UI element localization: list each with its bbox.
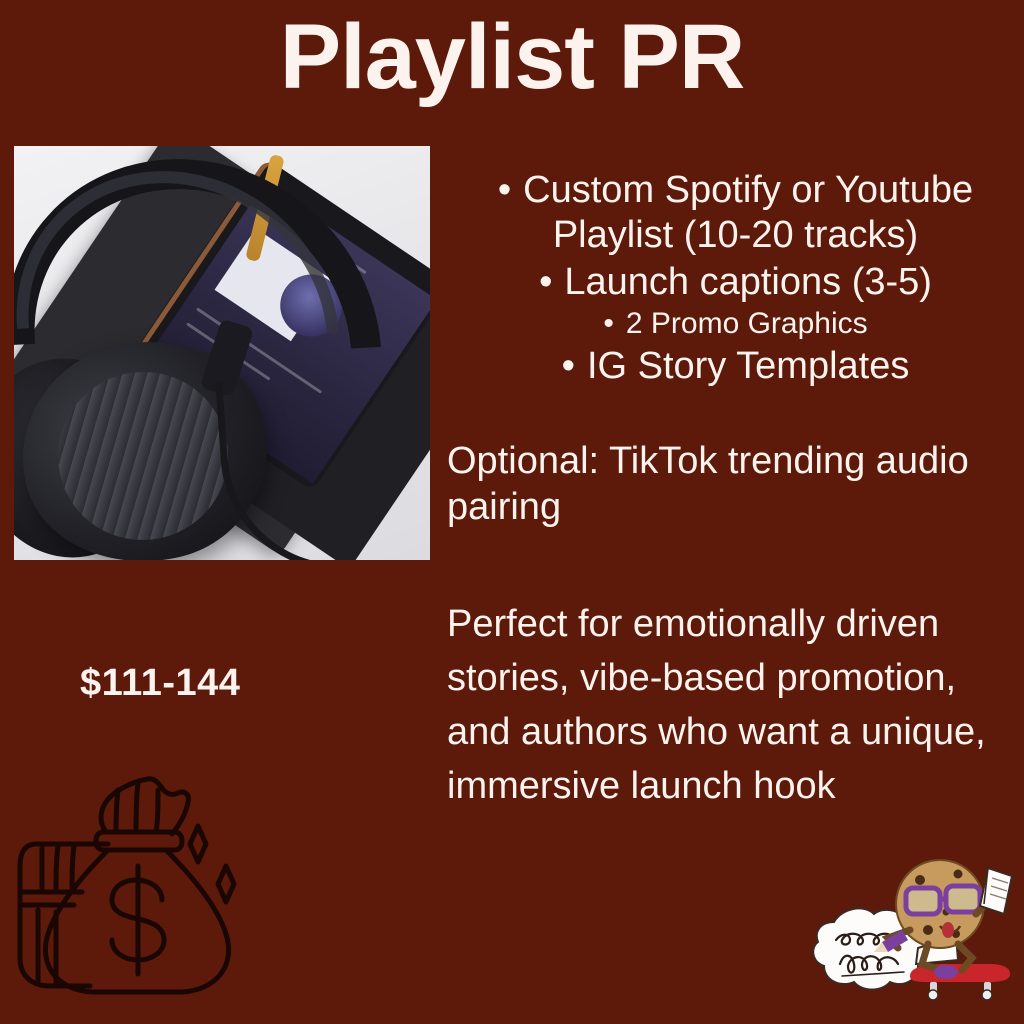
price-label: $111-144 [80, 662, 240, 705]
list-item: •Launch captions (3-5) [447, 260, 1024, 305]
feature-text: Custom Spotify or Youtube Playlist (10-2… [523, 169, 973, 256]
bullet-icon: • [498, 168, 511, 213]
bullet-icon: • [562, 344, 575, 389]
notebook-icon [980, 868, 1012, 914]
headphones-and-phone-photo [14, 146, 430, 560]
espress-yourself-logo [806, 852, 1018, 1004]
money-bag-icon [12, 762, 264, 1012]
poster-canvas: Playlist PR •Custom Spotify or Youtube P… [0, 0, 1024, 1024]
feature-text: IG Story Templates [587, 345, 909, 387]
features-list: •Custom Spotify or Youtube Playlist (10-… [447, 168, 1024, 391]
description-paragraph: Perfect for emotionally driven stories, … [447, 598, 1024, 814]
feature-text: 2 Promo Graphics [626, 307, 868, 340]
bullet-icon: • [603, 306, 614, 341]
optional-note: Optional: TikTok trending audio pairing [447, 438, 1007, 531]
feature-text: Launch captions (3-5) [564, 261, 932, 303]
page-title: Playlist PR [0, 8, 1024, 107]
bullet-icon: • [539, 260, 552, 305]
list-item: •Custom Spotify or Youtube Playlist (10-… [447, 168, 1024, 258]
list-item: •2 Promo Graphics [447, 306, 1024, 341]
list-item: •IG Story Templates [447, 344, 1024, 389]
